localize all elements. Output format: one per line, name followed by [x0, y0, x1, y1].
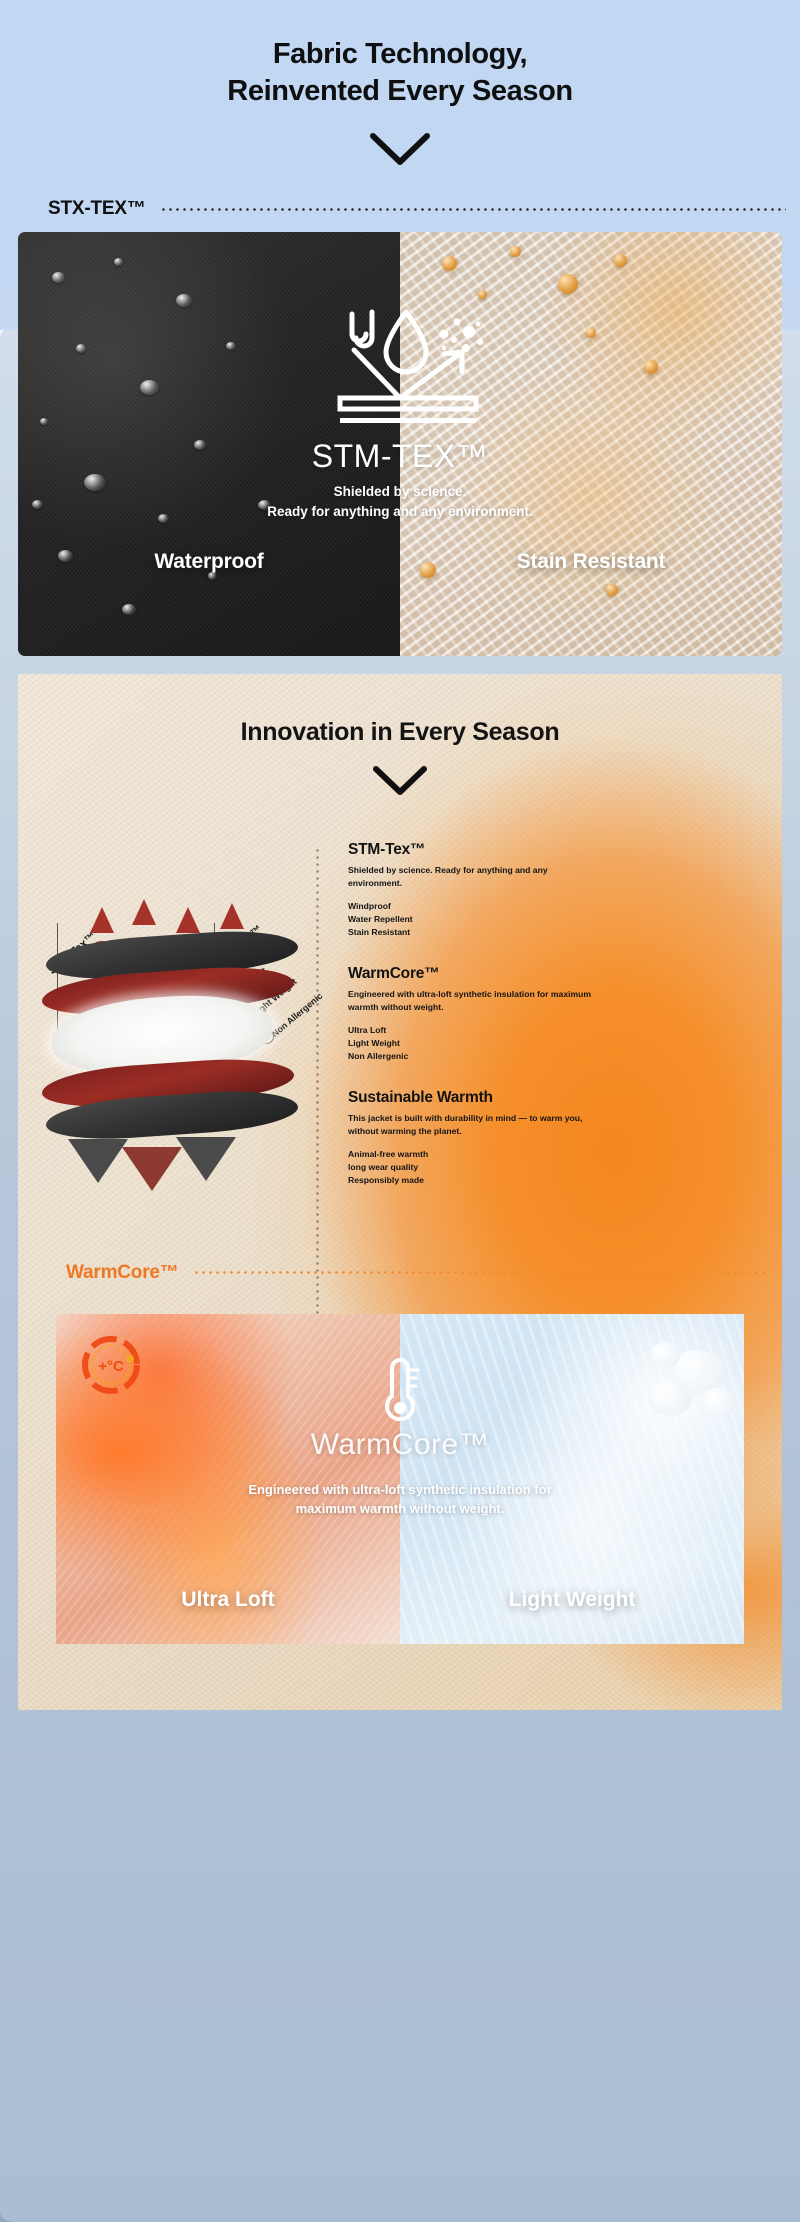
feature-bullet: Animal-free warmth — [348, 1148, 758, 1161]
feature-title: Sustainable Warmth — [348, 1089, 758, 1107]
feature-desc: Engineered with ultra-loft synthetic ins… — [348, 988, 593, 1013]
innovation-body: STM-Tex™ Windproof Water Repellent Stain… — [18, 797, 782, 1253]
downward-flow-arrows-icon — [58, 1137, 268, 1197]
page-title-line2: Reinvented Every Season — [227, 75, 572, 107]
warmcore-caption-row: Ultra Loft Light Weight — [56, 1588, 744, 1612]
feature-bullet: Light Weight — [348, 1037, 758, 1050]
feature-bullets: Animal-free warmth long wear quality Res… — [348, 1148, 758, 1187]
feature-bullet: Ultra Loft — [348, 1024, 758, 1037]
divider-dotted-line — [160, 208, 786, 211]
page-title: Fabric Technology, Reinvented Every Seas… — [0, 36, 800, 110]
section-label-stx-text: STX-TEX™ — [48, 198, 146, 220]
badge-temp-text: +°C — [98, 1358, 124, 1375]
divider-dotted-line — [193, 1271, 768, 1274]
caption-waterproof: Waterproof — [18, 550, 400, 574]
chevron-down-icon — [372, 765, 428, 797]
caption-light-weight: Light Weight — [400, 1588, 744, 1612]
stain-resistant-photo — [400, 232, 782, 656]
stx-tex-media-card: STM-TEX™ Shielded by science. Ready for … — [18, 232, 782, 656]
chevron-down-icon — [369, 132, 431, 168]
feature-bullet: Water Repellent — [348, 913, 758, 926]
layer-diagram: STM-Tex™ Windproof Water Repellent Stain… — [24, 807, 324, 1197]
caption-stain-resistant: Stain Resistant — [400, 550, 782, 574]
feature-desc: This jacket is built with durability in … — [348, 1112, 593, 1137]
temperature-badge-icon: +°C — [80, 1334, 142, 1396]
section-label-stx: STX-TEX™ — [0, 198, 800, 220]
feature-item: Sustainable Warmth This jacket is built … — [348, 1089, 758, 1187]
waterproof-photo — [18, 232, 400, 656]
panel-bottom-spacer — [18, 1644, 782, 1670]
feature-bullet: long wear quality — [348, 1161, 758, 1174]
innovation-panel: Innovation in Every Season STM-Tex™ Wind… — [18, 674, 782, 1709]
feature-list: STM-Tex™ Shielded by science. Ready for … — [324, 807, 758, 1213]
warmcore-media-card: +°C WarmCore™ — [56, 1314, 744, 1644]
feature-item: WarmCore™ Engineered with ultra-loft syn… — [348, 965, 758, 1063]
feature-bullet: Responsibly made — [348, 1174, 758, 1187]
section-label-warmcore: WarmCore™ — [18, 1262, 782, 1284]
feature-title: WarmCore™ — [348, 965, 758, 983]
feature-bullet: Stain Resistant — [348, 926, 758, 939]
feature-item: STM-Tex™ Shielded by science. Ready for … — [348, 841, 758, 939]
feature-desc: Shielded by science. Ready for anything … — [348, 864, 593, 889]
page-header: Fabric Technology, Reinvented Every Seas… — [0, 0, 800, 168]
innovation-title: Innovation in Every Season — [18, 674, 782, 747]
feature-bullets: Windproof Water Repellent Stain Resistan… — [348, 900, 758, 939]
feature-bullet: Non Allergenic — [348, 1050, 758, 1063]
feature-bullet: Windproof — [348, 900, 758, 913]
section-label-warmcore-text: WarmCore™ — [66, 1262, 179, 1284]
infographic-page: Fabric Technology, Reinvented Every Seas… — [0, 0, 800, 2222]
caption-ultra-loft: Ultra Loft — [56, 1588, 400, 1612]
feature-title: STM-Tex™ — [348, 841, 758, 859]
stx-caption-row: Waterproof Stain Resistant — [18, 550, 782, 574]
warmcore-card-wrap: +°C WarmCore™ — [18, 1296, 782, 1710]
feature-bullets: Ultra Loft Light Weight Non Allergenic — [348, 1024, 758, 1063]
page-title-line1: Fabric Technology, — [273, 38, 527, 70]
